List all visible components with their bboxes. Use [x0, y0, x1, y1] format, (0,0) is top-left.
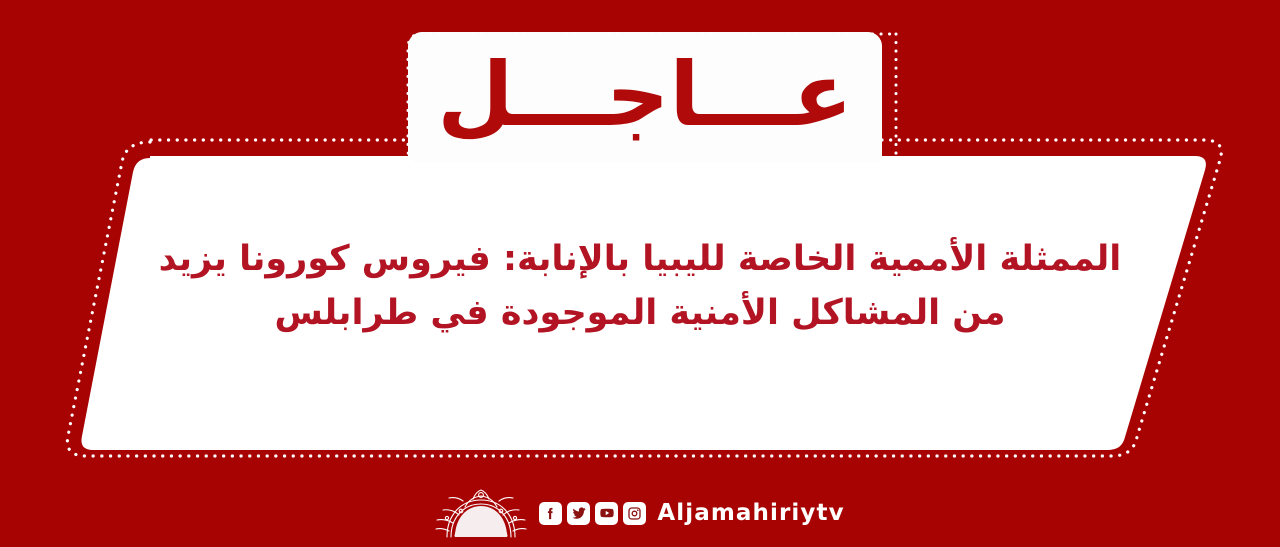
aljamahiriya-arch-emblem — [435, 487, 527, 539]
footer-bar: Aljamahiriytv — [0, 482, 1280, 544]
headline-line-1: الممثلة الأممية الخاصة لليبيا بالإنابة: … — [159, 239, 1122, 279]
headline-line-2: من المشاكل الأمنية الموجودة في طرابلس — [275, 293, 1006, 333]
youtube-icon[interactable] — [595, 502, 618, 525]
breaking-badge-dotted-border — [376, 18, 916, 178]
instagram-icon[interactable] — [623, 502, 646, 525]
twitter-icon[interactable] — [567, 502, 590, 525]
breaking-news-card: عـــاجـــل الممثلة الأممية الخاصة لليبيا… — [0, 0, 1280, 547]
facebook-icon[interactable] — [539, 502, 562, 525]
channel-handle: Aljamahiriytv — [657, 500, 844, 526]
page-title: الممثلة الأممية الخاصة لليبيا بالإنابة: … — [0, 232, 1280, 341]
social-links[interactable] — [539, 502, 646, 525]
